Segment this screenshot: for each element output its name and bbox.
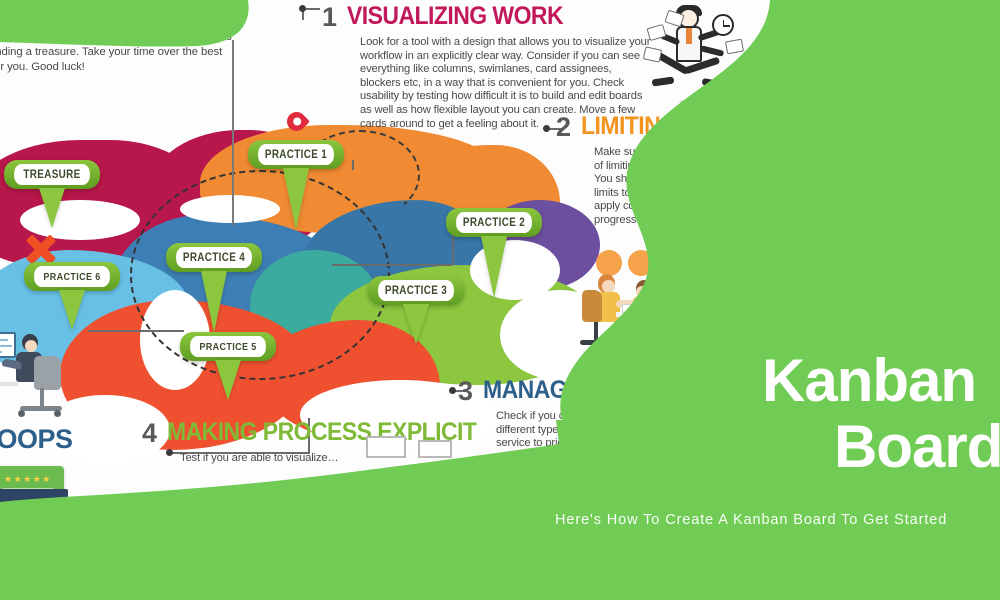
pin-bubble: PRACTICE 5 (180, 332, 276, 361)
section-title: MANAGING FLOW (483, 378, 678, 403)
pin-tail (215, 360, 241, 400)
pin-label: PRACTICE 3 (378, 280, 454, 301)
illustration-busy-worker (640, 2, 748, 106)
section-body: Check if you can easily set different ty… (496, 410, 638, 451)
laptop-outline-icon (366, 436, 406, 458)
worker-leg (702, 78, 727, 89)
pin-tail (283, 168, 309, 230)
intro-divider (232, 40, 234, 225)
pin-label: PRACTICE 6 (34, 266, 110, 287)
laptop-screen (0, 489, 68, 506)
pin-bubble: PRACTICE 1 (248, 140, 344, 169)
leader-line (352, 160, 354, 170)
pin-tail (39, 188, 65, 228)
treasure-x-marker-icon (24, 232, 58, 266)
section-number: 1 (322, 4, 337, 31)
leader-line (332, 264, 452, 266)
monitor-icon (0, 332, 16, 358)
pin-bubble: PRACTICE 4 (166, 243, 262, 272)
pin-tail (59, 290, 85, 330)
floating-document-icon (725, 39, 744, 55)
map-pin-practice-6[interactable]: PRACTICE 6 (24, 262, 120, 330)
screenshot-canvas: …solution that helps you implement all i… (0, 0, 1000, 600)
section-managing-flow: 3 MANAGING FLOW Check if you can easily … (458, 378, 638, 451)
map-pin-treasure[interactable]: TREASURE (4, 160, 100, 228)
section-body: Make sure the tool offers ways of limiti… (594, 146, 746, 228)
pin-label: PRACTICE 2 (456, 212, 532, 233)
pin-tail (201, 271, 227, 333)
pin-label: PRACTICE 1 (258, 144, 334, 165)
pin-bubble: TREASURE (4, 160, 100, 189)
page-title: Kanban Board (762, 348, 1000, 480)
worker-leg (652, 77, 675, 87)
pin-bubble: PRACTICE 6 (24, 262, 120, 291)
page-subtitle: Here's How To Create A Kanban Board To G… (555, 512, 947, 528)
illustration-desk-worker (0, 330, 88, 440)
section-title: LIMITING WIP (581, 114, 725, 139)
desk-leg (622, 316, 626, 350)
map-pin-practice-3[interactable]: PRACTICE 3 (368, 276, 464, 344)
office-chair-wheel (18, 410, 25, 417)
section-number: 4 (142, 420, 157, 447)
office-chair-back (582, 290, 602, 322)
person-face (25, 340, 37, 352)
office-chair-base (580, 340, 614, 345)
map-pin-practice-5[interactable]: PRACTICE 5 (180, 332, 276, 400)
illustration-team-pair (578, 258, 674, 363)
pin-label: TREASURE (14, 164, 90, 185)
pin-tail (481, 236, 507, 298)
laptop-base (0, 505, 74, 514)
leader-line-dot (449, 387, 456, 394)
office-chair-back (34, 356, 61, 390)
floating-document-icon (643, 46, 662, 62)
leader-line-dot (299, 5, 306, 12)
desk-surface (0, 382, 18, 386)
pin-label: PRACTICE 4 (176, 247, 252, 268)
monitor-content-line (0, 351, 2, 353)
worker-tie (686, 28, 692, 44)
pin-tail (403, 304, 429, 344)
page-title-line-2: Board (834, 414, 1000, 480)
monitor-content-line (0, 345, 12, 347)
worker-shadow (680, 100, 726, 104)
office-chair-wheel (54, 410, 61, 417)
laptop-outline-icon (418, 440, 452, 458)
section-title: VISUALIZING WORK (347, 4, 563, 29)
pin-label: PRACTICE 5 (190, 336, 266, 357)
monitor-content-line (0, 339, 8, 341)
star-rating-icon: ★★★★★ (4, 474, 52, 485)
map-pin-practice-1[interactable]: PRACTICE 1 (248, 140, 344, 230)
worker-arm (700, 45, 725, 57)
pin-bubble: PRACTICE 2 (446, 208, 542, 237)
office-chair-post (40, 388, 44, 408)
section-number: 2 (556, 114, 571, 141)
clock-icon (712, 14, 734, 36)
pin-bubble: PRACTICE 3 (368, 276, 464, 305)
paper-on-desk (622, 304, 644, 313)
page-title-line-1: Kanban (762, 347, 976, 414)
map-pin-practice-4[interactable]: PRACTICE 4 (166, 243, 262, 333)
intro-paragraph: …solution that helps you implement all i… (0, 30, 235, 75)
infographic-poster: …solution that helps you implement all i… (0, 0, 1000, 600)
section-limiting-wip: 2 LIMITING WIP Make sure the tool offers… (556, 114, 746, 228)
office-chair-post (594, 322, 598, 342)
section-number: 3 (458, 378, 473, 405)
